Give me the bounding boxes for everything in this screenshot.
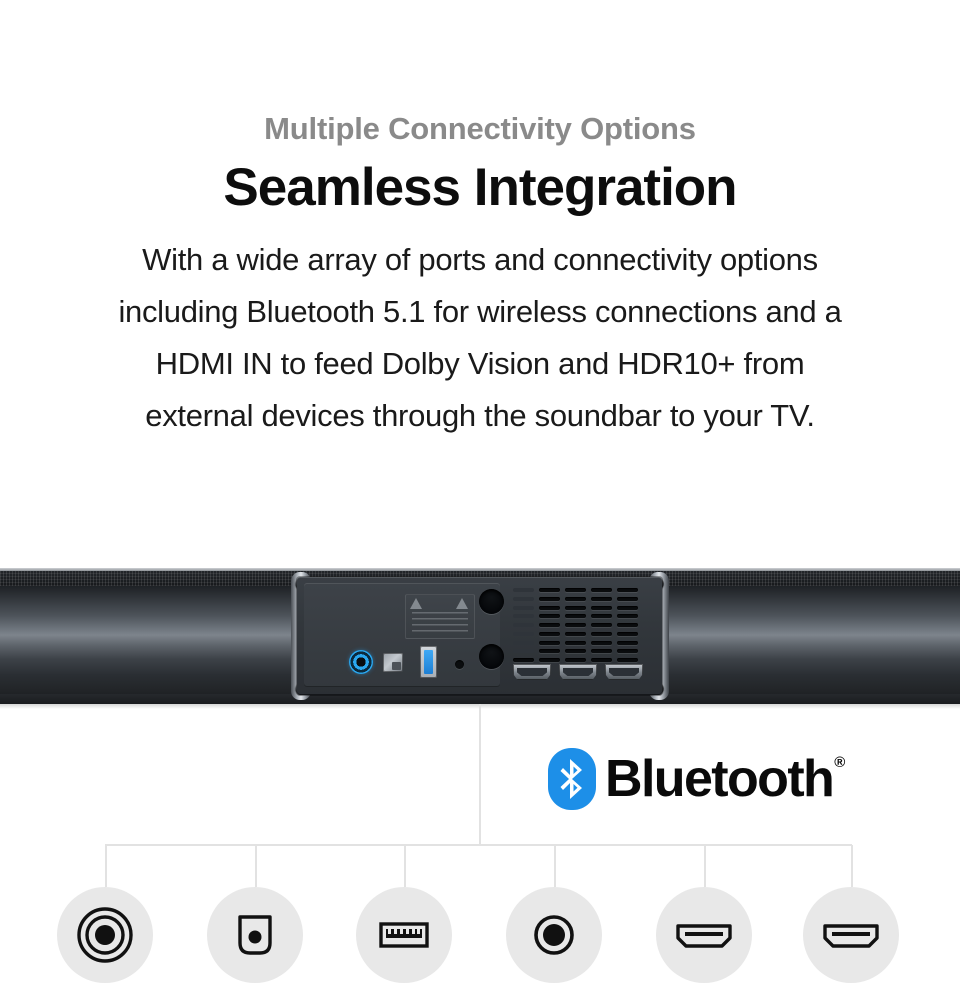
grille-column — [565, 588, 586, 662]
hdmi-arc-port-icon — [819, 913, 883, 957]
bluetooth-logo: Bluetooth ® — [548, 748, 845, 810]
connector-stub-line — [105, 845, 107, 887]
hdmi-port-icon — [672, 913, 736, 957]
registered-trademark-symbol: ® — [834, 754, 845, 771]
aux-jack-icon — [527, 908, 581, 962]
hdmi-port-2 — [559, 664, 597, 680]
warning-triangle-icon — [410, 598, 422, 609]
mounting-hole — [479, 644, 504, 669]
bluetooth-wordmark: Bluetooth — [605, 753, 833, 805]
grille-column — [539, 588, 560, 662]
page-title: Seamless Integration — [0, 160, 960, 216]
port-icon-hdmi-1 — [656, 887, 752, 983]
port-icon-usb — [356, 887, 452, 983]
warning-label — [405, 594, 475, 639]
body-paragraph: With a wide array of ports and connectiv… — [100, 234, 860, 442]
port-icon-aux — [506, 887, 602, 983]
connector-stub-line — [404, 845, 406, 887]
warning-triangle-icon — [456, 598, 468, 609]
optical-coaxial-port — [349, 650, 373, 674]
toslink-square-port — [383, 653, 403, 672]
rear-port-panel — [297, 577, 662, 695]
bluetooth-badge — [548, 748, 596, 810]
product-feature-page: Multiple Connectivity Options Seamless I… — [0, 0, 960, 1000]
usb-port-icon — [373, 904, 435, 966]
grille-column — [617, 588, 638, 662]
port-icon-optical — [207, 887, 303, 983]
warning-label-text — [412, 612, 468, 634]
connector-stub-line — [554, 845, 556, 887]
mounting-hole — [479, 589, 504, 614]
optical-port-icon — [227, 907, 283, 963]
connector-bracket-line — [105, 844, 852, 846]
ventilation-grille — [513, 588, 639, 662]
soundbar-bottom-lip — [0, 694, 960, 704]
hdmi-port-3 — [605, 664, 643, 680]
connector-stub-line — [255, 845, 257, 887]
grille-column — [513, 588, 534, 662]
reset-pinhole — [455, 660, 464, 669]
connector-stub-line — [704, 845, 706, 887]
hdmi-port-1 — [513, 664, 551, 680]
usb-a-port — [420, 646, 437, 678]
grille-column — [591, 588, 612, 662]
connector-stem-line — [479, 704, 481, 845]
port-icon-coaxial — [57, 887, 153, 983]
eyebrow-text: Multiple Connectivity Options — [0, 112, 960, 146]
connector-stub-line — [851, 845, 853, 887]
copy-block: Multiple Connectivity Options Seamless I… — [0, 0, 960, 442]
coaxial-port-icon — [75, 905, 135, 965]
bluetooth-rune-icon — [559, 759, 585, 799]
port-icon-hdmi-2 — [803, 887, 899, 983]
